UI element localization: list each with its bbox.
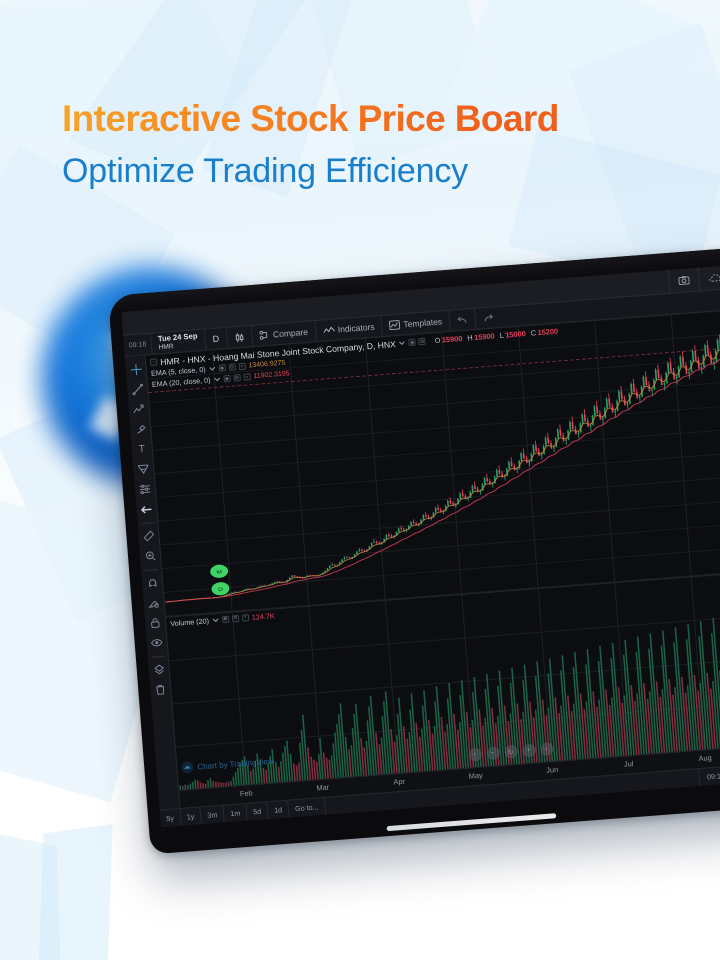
toolbar-date: Tue 24 Sep [158,333,198,344]
legend-eye-toggle[interactable]: ◉ [408,339,416,347]
crosshair-icon[interactable] [127,359,145,379]
interval-label: D [212,334,219,344]
minus-box-icon[interactable]: − [150,358,158,366]
goto-button[interactable]: Go to... [288,797,326,818]
rail-divider [151,656,164,658]
ohlc-key-l: L [499,331,504,340]
svg-text:D: D [218,587,223,592]
chevron-down-icon[interactable] [399,340,406,346]
range-1d[interactable]: 1d [267,800,289,820]
text-tool-icon[interactable]: T [133,439,151,459]
time-tick: Aug [698,753,712,763]
templates-icon [389,320,401,331]
zoom-in-button[interactable]: + [522,744,536,758]
cloud-icon [708,273,720,283]
indicators-label: Indicators [337,322,375,335]
ema-slow-eye-toggle[interactable]: ◉ [223,375,231,383]
toolbar-ticker: HMR [158,343,174,351]
chevron-down-icon[interactable] [208,366,215,372]
chart-canvas[interactable]: MD − HMR - HNX - Hoang Mai Stone Joint S… [146,304,720,790]
toolbar-clock: 09:18 [123,333,152,356]
range-5d[interactable]: 5d [247,802,269,822]
bg-shape [37,824,112,960]
indicators-icon [323,326,336,335]
fib-tool-icon[interactable] [134,459,152,479]
ohlc-val-o: 15900 [442,334,463,345]
price-pane[interactable]: MD − HMR - HNX - Hoang Mai Stone Joint S… [146,304,720,616]
reset-chart-button[interactable]: ↻ [504,745,518,759]
zoom-out-button[interactable]: − [486,746,500,760]
ema-slow-value: 11902.3195 [253,370,290,380]
ohlc-key-o: O [434,336,440,345]
time-tick: Apr [393,777,405,787]
tradingview-logo-icon [181,761,194,774]
arrow-icon[interactable] [137,499,155,519]
time-tick: Jul [624,759,634,769]
candlestick-icon [234,331,245,343]
ohlc-key-h: H [467,333,473,342]
tablet-screen: Save [121,259,720,827]
legend-settings-toggle[interactable]: ⚙ [418,338,426,346]
ohlc-val-h: 15900 [474,331,495,342]
ideas-icon[interactable] [144,593,162,613]
ema-fast-eye-toggle[interactable]: ◉ [218,364,226,372]
time-tick: Feb [240,788,253,798]
ema-fast-settings[interactable]: ⚙ [228,363,236,371]
trend-line-icon[interactable] [128,379,146,399]
compare-label: Compare [273,327,309,340]
magnifier-icon[interactable] [141,546,159,566]
scroll-left-button[interactable]: ‹ [468,748,482,762]
chevron-down-icon[interactable] [212,617,219,623]
range-5y[interactable]: 5y [160,808,182,827]
undo-button[interactable] [449,308,477,331]
time-tick: May [468,771,483,781]
magnet-icon[interactable] [143,573,161,593]
snapshot-button[interactable] [668,267,700,293]
undo-arrow-icon [457,315,469,325]
page-title: Interactive Stock Price Board [62,98,662,140]
volume-remove[interactable]: × [242,614,250,622]
chevron-down-icon[interactable] [213,377,220,383]
volume-settings[interactable]: ⚙ [232,615,240,623]
ohlc-val-c: 15200 [537,327,558,338]
svg-text:M: M [216,570,222,575]
ema-fast-remove[interactable]: × [238,363,246,371]
eye-icon[interactable] [148,633,166,653]
ema-slow-remove[interactable]: × [243,373,251,381]
page-subtitle: Optimize Trading Efficiency [62,152,682,191]
interval-button[interactable]: D [205,328,228,351]
measure-icon[interactable] [136,479,154,499]
pattern-icon[interactable] [130,399,148,419]
trash-icon[interactable] [151,680,169,700]
redo-button[interactable] [475,306,502,329]
volume-value: 124.7K [251,611,274,622]
scroll-right-button[interactable]: › [540,742,554,756]
lock-icon[interactable] [146,613,164,633]
time-tick: Mar [316,782,329,792]
ohlc-key-c: C [530,328,536,337]
templates-label: Templates [403,316,442,329]
camera-icon [679,275,691,285]
ema-slow-settings[interactable]: ⚙ [233,374,241,382]
chart-type-button[interactable] [226,326,253,349]
range-1m[interactable]: 1m [224,803,248,823]
compare-icon [259,330,271,341]
rail-divider [141,522,154,524]
ohlc-val-l: 15000 [505,329,526,340]
tablet-device: Save [108,242,720,854]
ruler-icon[interactable] [139,526,157,546]
range-3m[interactable]: 3m [201,805,225,825]
volume-eye-toggle[interactable]: ◉ [222,615,230,623]
redo-arrow-icon [483,313,495,323]
brush-icon[interactable] [131,419,149,439]
ema-fast-value: 13406.9275 [248,360,285,370]
range-1y[interactable]: 1y [180,807,202,827]
object-tree-icon[interactable] [150,660,168,680]
time-tick: Jun [546,765,559,775]
rail-divider [145,569,158,571]
